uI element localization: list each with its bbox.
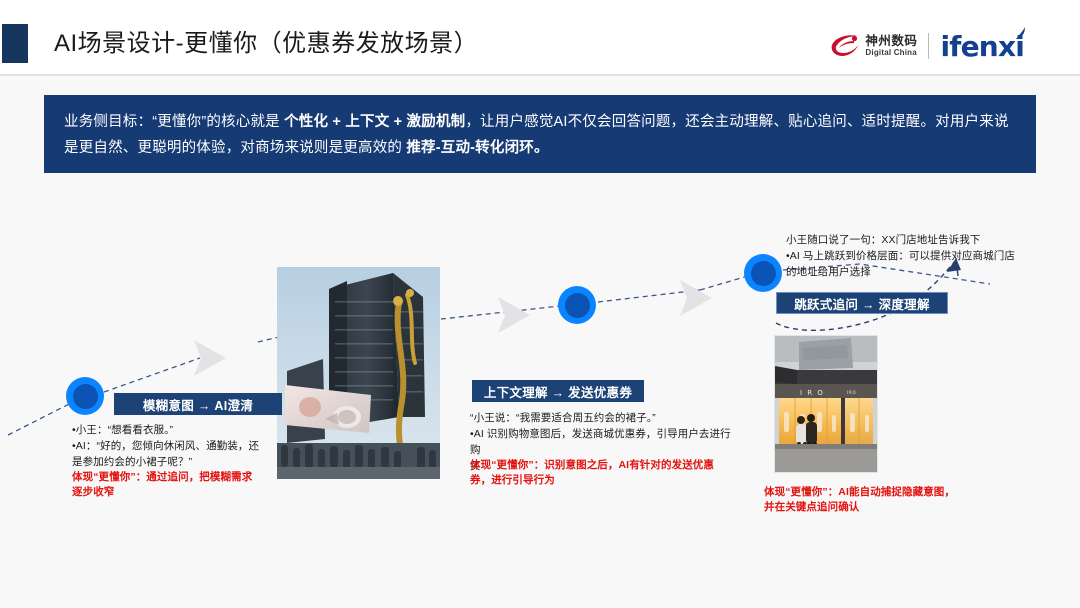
stage-1-label[interactable]: 模糊意图 → AI澄清 (114, 393, 282, 415)
flow-node-2[interactable] (558, 286, 596, 324)
stage-1-highlight-line-2: 逐步收窄 (72, 485, 282, 500)
stage-1-body: •小王：“想看看衣服。” •AI：“好的，您倾向休闲风、通勤装，还 是参加约会的… (72, 422, 284, 470)
stage-1-body-line-3: 是参加约会的小裙子呢？” (72, 454, 284, 470)
ifenxi-accent-icon (1015, 27, 1026, 40)
stage-3-highlight: 体现“更懂你”：AI能自动捕捉隐藏意图， 并在关键点追问确认 (764, 485, 1040, 515)
title-accent-bar (2, 24, 28, 63)
stage-1-highlight-line-1: 体现“更懂你”：通过追问，把模糊需求 (72, 470, 282, 485)
city-billboard-photo (277, 267, 440, 479)
digital-china-logo: 神州数码 Digital China (830, 33, 917, 59)
flow-node-1[interactable] (66, 377, 104, 415)
stage-3-body-line-1: 小王随口说了一句：XX门店地址告诉我下 (786, 232, 1036, 248)
stage-2-body-line-1: “小王说：“我需要适合周五约会的裙子。” (470, 410, 738, 426)
stage-2-body-line-2: •AI 识别购物意图后，发送商城优惠券，引导用户去进行购 (470, 426, 738, 458)
slide-header: AI场景设计-更懂你（优惠券发放场景） 神州数码 Digital China i… (0, 0, 1080, 76)
stage-1-body-line-2: •AI：“好的，您倾向休闲风、通勤装，还 (72, 438, 284, 454)
header-divider (0, 74, 1080, 76)
svg-text:IRO: IRO (847, 390, 857, 395)
banner-seg-3: 推荐-互动-转化闭环。 (406, 140, 548, 156)
flow-node-3[interactable] (744, 254, 782, 292)
stage-2-highlight-line-2: 券，进行引导行为 (470, 473, 738, 488)
stage-3-body: 小王随口说了一句：XX门店地址告诉我下 •AI 马上跳跃到价格层面：可以提供对应… (786, 232, 1036, 280)
stage-1-body-line-1: •小王：“想看看衣服。” (72, 422, 284, 438)
logo-group: 神州数码 Digital China ifenxi (830, 28, 1024, 64)
ifenxi-logo: ifenxi (940, 30, 1024, 63)
ifenxi-wordmark: ifenxi (940, 30, 1024, 63)
svg-text:I R O: I R O (800, 389, 824, 397)
stage-2-label[interactable]: 上下文理解 → 发送优惠券 (472, 380, 644, 402)
stage-3-body-line-3: 的地址给用户选择 (786, 264, 1036, 280)
goal-banner-text: 业务侧目标：“更懂你”的核心就是 个性化 + 上下文 + 激励机制，让用户感觉A… (64, 109, 1018, 161)
stage-3-highlight-line-2: 并在关键点追问确认 (764, 500, 1040, 515)
chevron-arrow-2 (498, 297, 530, 333)
logo-divider (928, 33, 929, 59)
stage-2-highlight: 体现“更懂你”：识别意图之后，AI有针对的发送优惠 券，进行引导行为 (470, 458, 738, 488)
goal-banner: 业务侧目标：“更懂你”的核心就是 个性化 + 上下文 + 激励机制，让用户感觉A… (44, 95, 1036, 173)
stage-3-body-line-2: •AI 马上跳跃到价格层面：可以提供对应商城门店 (786, 248, 1036, 264)
storefront-photo: I R O IRO (774, 335, 878, 473)
stage-3-label[interactable]: 跳跃式追问 → 深度理解 (776, 292, 948, 314)
stage-2-highlight-line-1: 体现“更懂你”：识别意图之后，AI有针对的发送优惠 (470, 458, 738, 473)
banner-seg-1: 个性化 + 上下文 + 激励机制 (284, 114, 465, 130)
flow-diagram: I R O IRO (0, 180, 1080, 608)
page-title: AI场景设计-更懂你（优惠券发放场景） (54, 27, 478, 61)
slide-canvas: AI场景设计-更懂你（优惠券发放场景） 神州数码 Digital China i… (0, 0, 1080, 608)
digital-china-swirl-icon (830, 33, 860, 59)
digital-china-name-cn: 神州数码 (865, 35, 917, 48)
chevron-arrow-3 (680, 280, 712, 316)
stage-3-highlight-line-1: 体现“更懂你”：AI能自动捕捉隐藏意图， (764, 485, 1040, 500)
stage-1-highlight: 体现“更懂你”：通过追问，把模糊需求 逐步收窄 (72, 470, 282, 500)
banner-seg-0: 业务侧目标：“更懂你”的核心就是 (64, 114, 284, 130)
digital-china-name-en: Digital China (865, 49, 917, 57)
